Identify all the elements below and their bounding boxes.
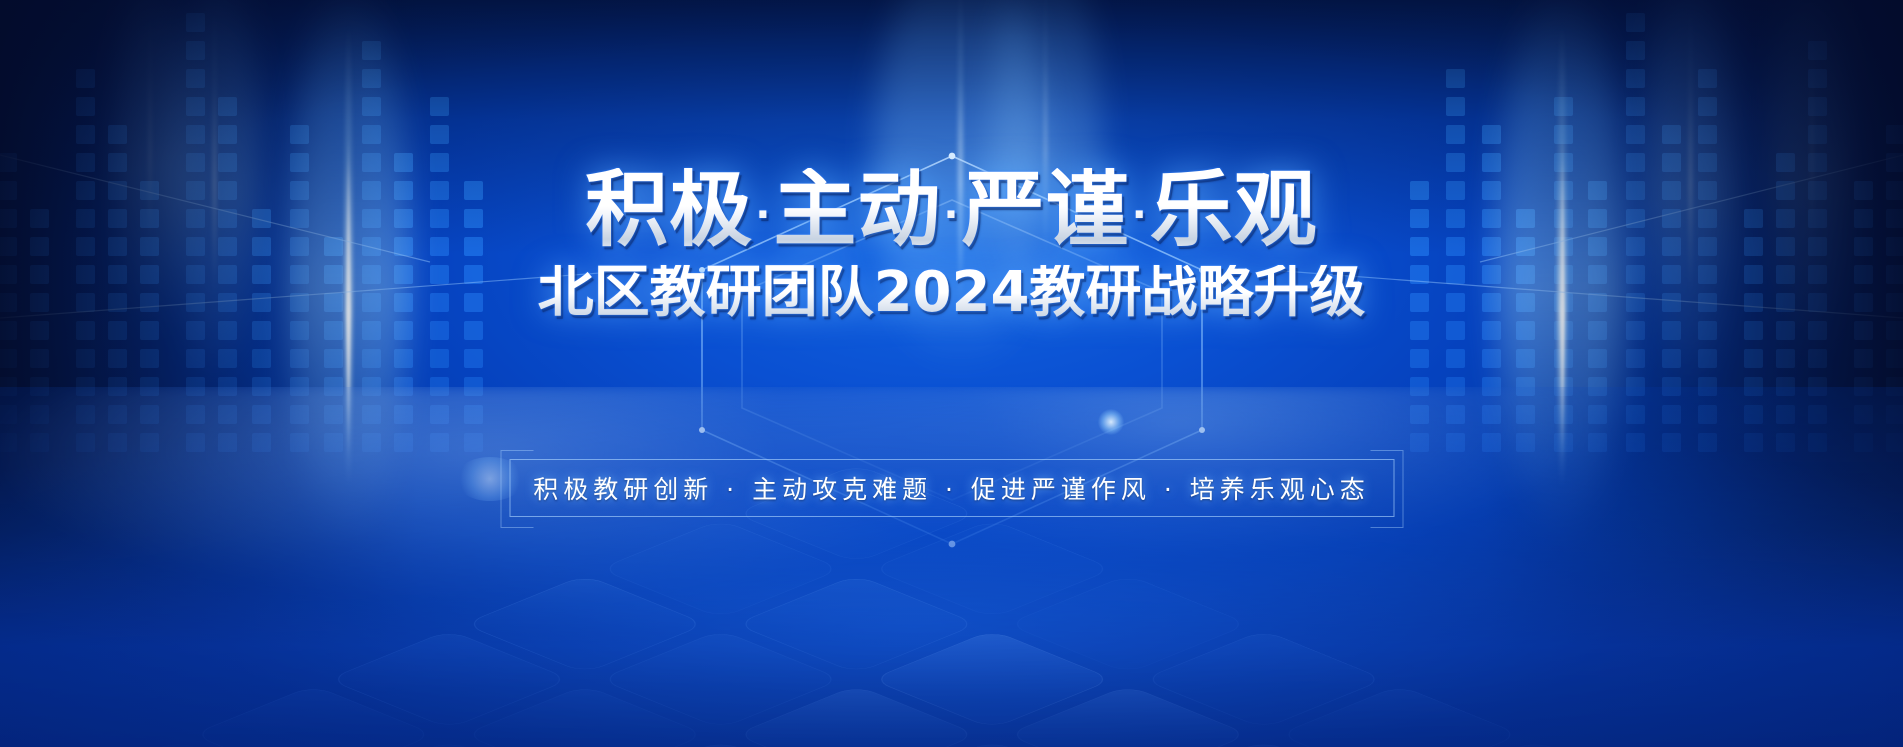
headline-word: 积极	[585, 161, 753, 258]
headline-separator-dot: ·	[1130, 192, 1150, 238]
headline-word: 严谨	[962, 161, 1130, 258]
banner-root: 积极·主动·严谨·乐观 北区教研团队2024教研战略升级 积极教研创新 · 主动…	[0, 0, 1903, 747]
tagline-text: 积极教研创新 · 主动攻克难题 · 促进严谨作风 · 培养乐观心态	[533, 470, 1370, 506]
headline-separator-dot: ·	[941, 192, 961, 238]
headline-word: 主动	[773, 161, 941, 258]
headline-word: 乐观	[1150, 161, 1318, 258]
banner-content: 积极·主动·严谨·乐观 北区教研团队2024教研战略升级 积极教研创新 · 主动…	[0, 0, 1903, 747]
headline-separator-dot: ·	[753, 192, 773, 238]
headline-secondary: 北区教研团队2024教研战略升级	[0, 265, 1903, 321]
title-block: 积极·主动·严谨·乐观 北区教研团队2024教研战略升级	[0, 168, 1903, 321]
headline-primary: 积极·主动·严谨·乐观	[0, 168, 1903, 251]
tagline-box: 积极教研创新 · 主动攻克难题 · 促进严谨作风 · 培养乐观心态	[509, 459, 1394, 517]
